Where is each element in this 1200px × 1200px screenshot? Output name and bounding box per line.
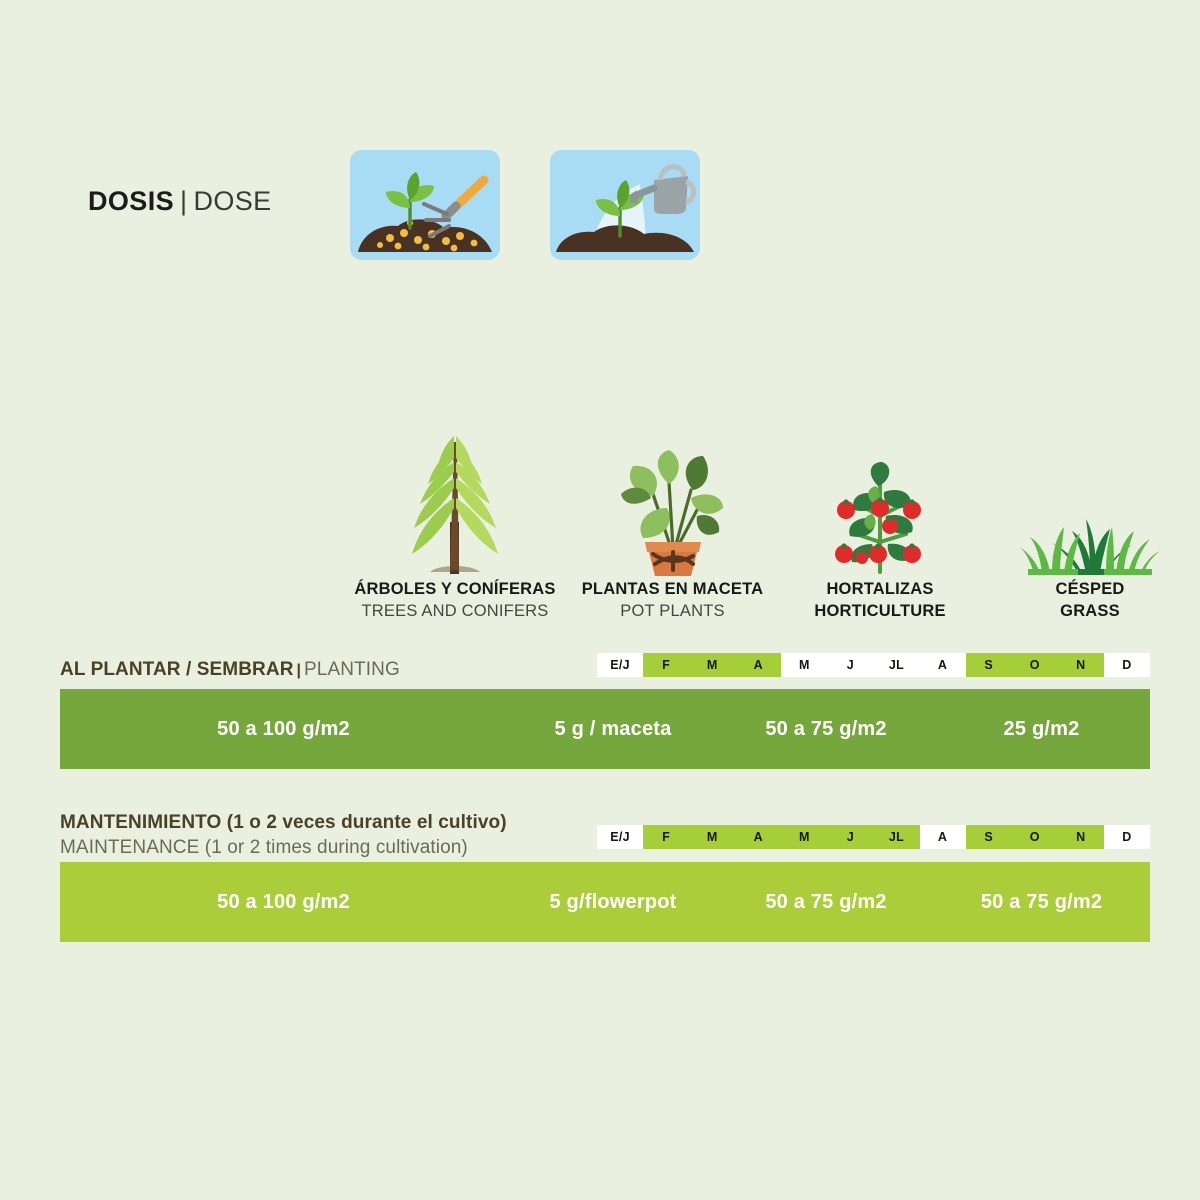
- dose-value-maintenance-pot: 5 g/flowerpot: [507, 862, 719, 942]
- month-cell-f[interactable]: F: [643, 825, 689, 849]
- month-cell-j[interactable]: J: [827, 653, 873, 677]
- category-label-grass-es: CÉSPED: [1000, 578, 1180, 600]
- month-cell-o[interactable]: O: [1012, 653, 1058, 677]
- category-label-pot-en: POT PLANTS: [565, 600, 780, 622]
- page-title-separator: |: [180, 186, 187, 216]
- category-label-horti-es: HORTALIZAS: [790, 578, 970, 600]
- dose-value-planting-pot: 5 g / maceta: [507, 689, 719, 769]
- month-cell-may[interactable]: M: [781, 825, 827, 849]
- watering-can-icon: [550, 150, 700, 260]
- category-column-grass: CÉSPED GRASS: [1000, 470, 1180, 623]
- page-title-es: DOSIS: [88, 186, 174, 216]
- category-label-trees-en: TREES AND CONIFERS: [340, 600, 570, 622]
- dose-value-maintenance-horti: 50 a 75 g/m2: [719, 862, 933, 942]
- category-label-horti-en: HORTICULTURE: [790, 600, 970, 622]
- month-cell-s[interactable]: S: [966, 825, 1012, 849]
- month-cell-n[interactable]: N: [1058, 825, 1104, 849]
- dose-value-planting-trees: 50 a 100 g/m2: [60, 689, 507, 769]
- page-title-en: DOSE: [193, 186, 271, 216]
- month-cell-d[interactable]: D: [1104, 825, 1150, 849]
- month-cell-ej[interactable]: E/J: [597, 825, 643, 849]
- dose-bar-planting: 50 a 100 g/m2 5 g / maceta 50 a 75 g/m2 …: [60, 689, 1150, 769]
- dose-bar-maintenance: 50 a 100 g/m2 5 g/flowerpot 50 a 75 g/m2…: [60, 862, 1150, 942]
- category-column-trees: ÁRBOLES Y CONÍFERAS TREES AND CONIFERS: [340, 430, 570, 623]
- row-heading-planting-separator: |: [297, 662, 301, 679]
- month-strip-planting: E/J F M A M J JL A S O N D: [597, 653, 1150, 677]
- month-cell-n[interactable]: N: [1058, 653, 1104, 677]
- month-cell-a[interactable]: A: [735, 653, 781, 677]
- month-cell-f[interactable]: F: [643, 653, 689, 677]
- month-cell-o[interactable]: O: [1012, 825, 1058, 849]
- month-cell-ej[interactable]: E/J: [597, 653, 643, 677]
- month-cell-aug[interactable]: A: [920, 653, 966, 677]
- month-cell-may[interactable]: M: [781, 653, 827, 677]
- planting-with-rake-icon: [350, 150, 500, 260]
- page-title: DOSIS|DOSE: [88, 186, 272, 217]
- month-cell-jl[interactable]: JL: [873, 825, 919, 849]
- tomato-plant-icon: [790, 460, 970, 578]
- month-cell-m[interactable]: M: [689, 825, 735, 849]
- row-heading-planting-es: AL PLANTAR / SEMBRAR: [60, 659, 294, 680]
- month-cell-j[interactable]: J: [827, 825, 873, 849]
- dose-value-planting-grass: 25 g/m2: [933, 689, 1150, 769]
- category-column-pot-plants: PLANTAS EN MACETA POT PLANTS: [565, 446, 780, 623]
- row-heading-planting: AL PLANTAR / SEMBRAR|PLANTING: [60, 659, 400, 681]
- category-label-pot-es: PLANTAS EN MACETA: [565, 578, 780, 600]
- dose-value-planting-horti: 50 a 75 g/m2: [719, 689, 933, 769]
- category-label-grass-en: GRASS: [1000, 600, 1180, 622]
- pot-plant-icon: [565, 446, 780, 578]
- month-cell-a[interactable]: A: [735, 825, 781, 849]
- row-heading-planting-en: PLANTING: [304, 659, 400, 680]
- row-heading-maintenance-es: MANTENIMIENTO (1 o 2 veces durante el cu…: [60, 812, 507, 833]
- month-cell-jl[interactable]: JL: [873, 653, 919, 677]
- grass-icon: [1000, 470, 1180, 578]
- month-cell-m[interactable]: M: [689, 653, 735, 677]
- month-cell-d[interactable]: D: [1104, 653, 1150, 677]
- row-heading-maintenance-en: MAINTENANCE (1 or 2 times during cultiva…: [60, 837, 507, 859]
- category-label-trees-es: ÁRBOLES Y CONÍFERAS: [340, 578, 570, 600]
- dose-value-maintenance-grass: 50 a 75 g/m2: [933, 862, 1150, 942]
- category-column-horticulture: HORTALIZAS HORTICULTURE: [790, 460, 970, 623]
- month-strip-maintenance: E/J F M A M J JL A S O N D: [597, 825, 1150, 849]
- month-cell-s[interactable]: S: [966, 653, 1012, 677]
- dose-value-maintenance-trees: 50 a 100 g/m2: [60, 862, 507, 942]
- conifer-tree-icon: [340, 430, 570, 578]
- row-heading-maintenance: MANTENIMIENTO (1 o 2 veces durante el cu…: [60, 812, 507, 859]
- month-cell-aug[interactable]: A: [920, 825, 966, 849]
